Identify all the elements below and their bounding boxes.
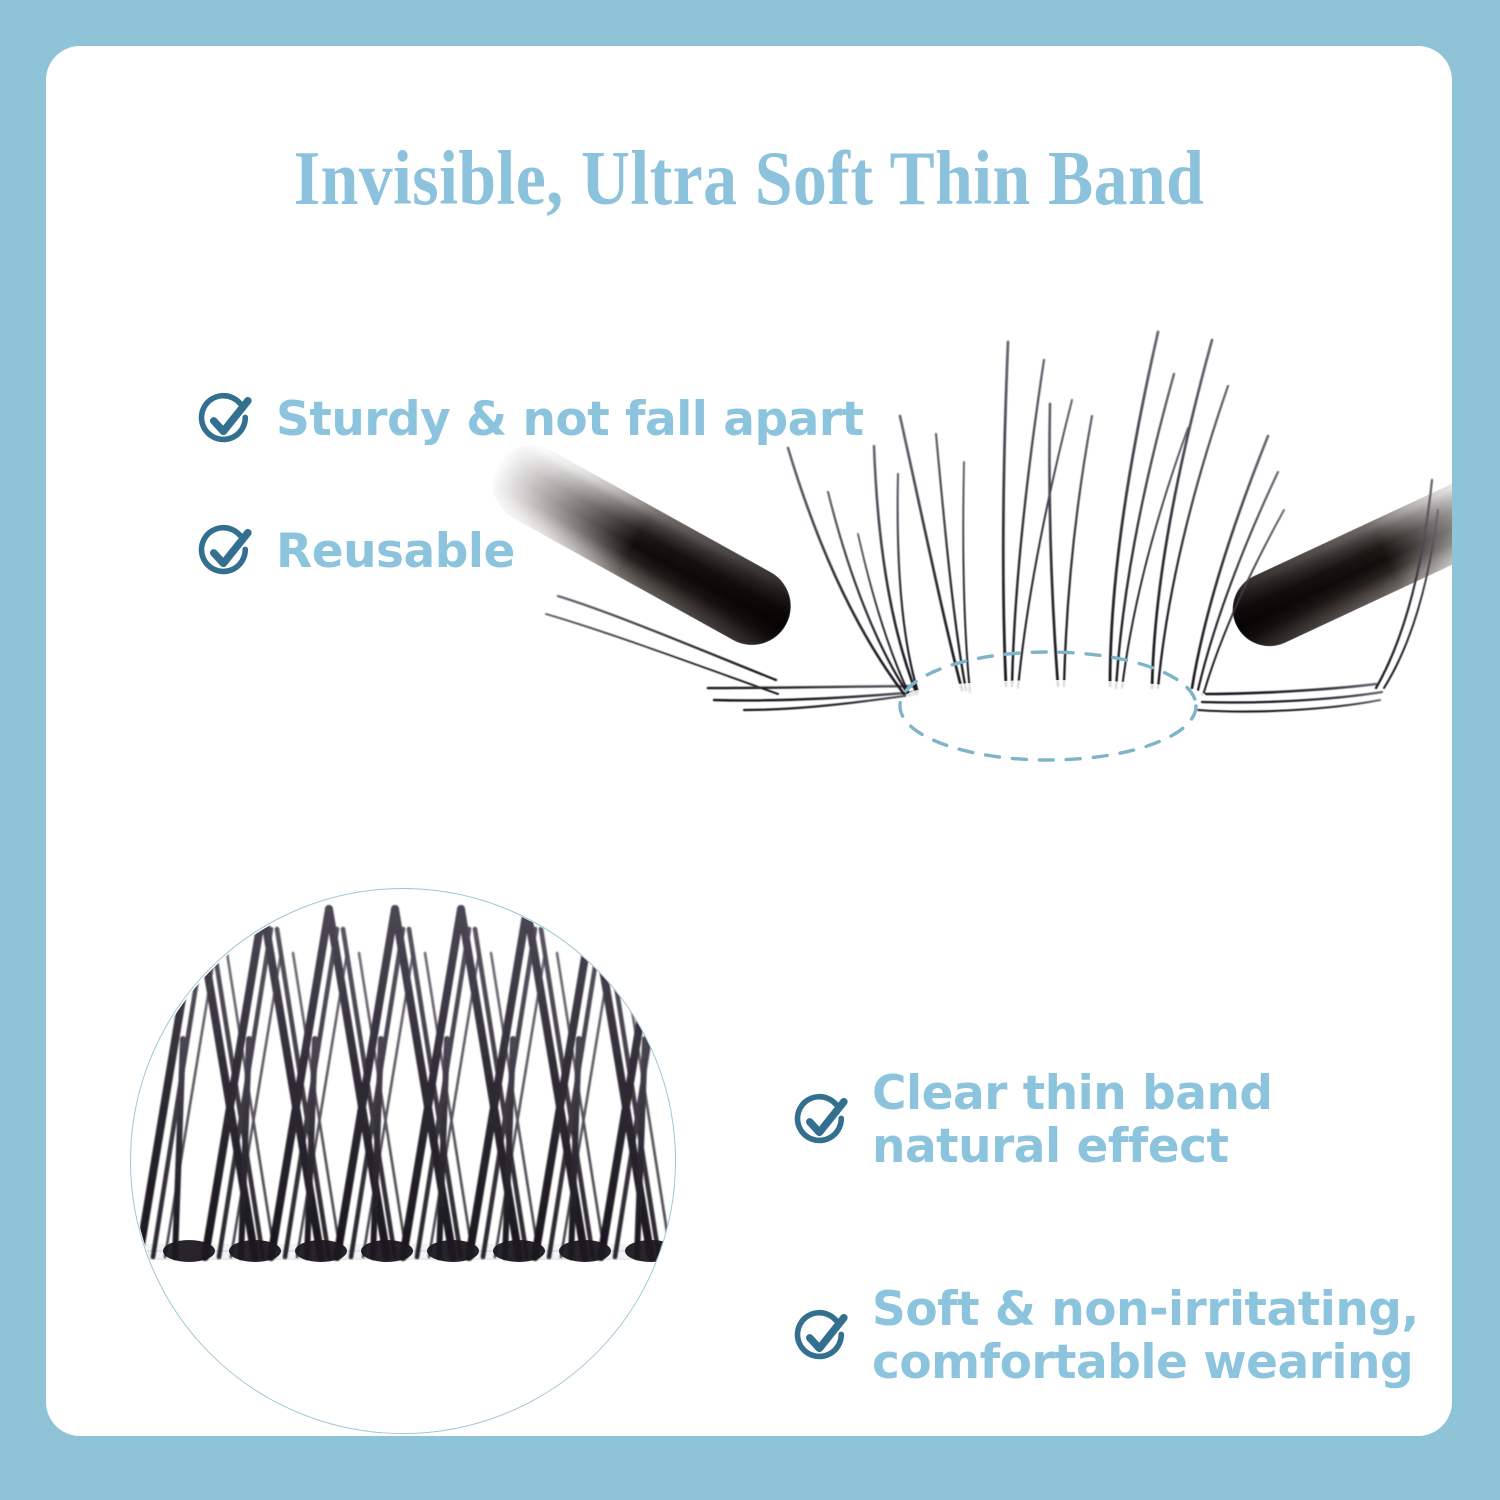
check-circle-icon — [198, 524, 254, 580]
content-panel: Invisible, Ultra Soft Thin Band — [46, 46, 1452, 1436]
feature-item-reusable: Reusable — [198, 524, 515, 580]
feature-label-clear-band: Clear thin band natural effect — [872, 1068, 1273, 1173]
feature-item-soft: Soft & non-irritating, comfortable weari… — [794, 1284, 1419, 1389]
feature-label-line-1: Soft & non-irritating, — [872, 1282, 1419, 1337]
check-circle-icon — [198, 392, 254, 448]
lash-stretch-photo — [446, 296, 1452, 876]
feature-item-clear-band: Clear thin band natural effect — [794, 1068, 1273, 1173]
feature-label-soft: Soft & non-irritating, comfortable weari… — [872, 1284, 1419, 1389]
feature-label-line-2: natural effect — [872, 1121, 1273, 1174]
lash-band-macro-graphic — [131, 889, 676, 1434]
feature-label-reusable: Reusable — [276, 526, 515, 579]
feature-item-sturdy: Sturdy & not fall apart — [198, 392, 864, 448]
outer-border-frame: Invisible, Ultra Soft Thin Band — [0, 0, 1500, 1500]
check-circle-icon — [794, 1093, 850, 1149]
feature-label-line-1: Clear thin band — [872, 1066, 1273, 1121]
check-circle-icon — [794, 1309, 850, 1365]
lash-fibers-graphic — [446, 296, 1452, 876]
feature-label-sturdy: Sturdy & not fall apart — [276, 394, 864, 447]
lash-band-macro-inset — [130, 888, 676, 1434]
page-title: Invisible, Ultra Soft Thin Band — [130, 134, 1367, 223]
feature-label-line-2: comfortable wearing — [872, 1337, 1419, 1390]
